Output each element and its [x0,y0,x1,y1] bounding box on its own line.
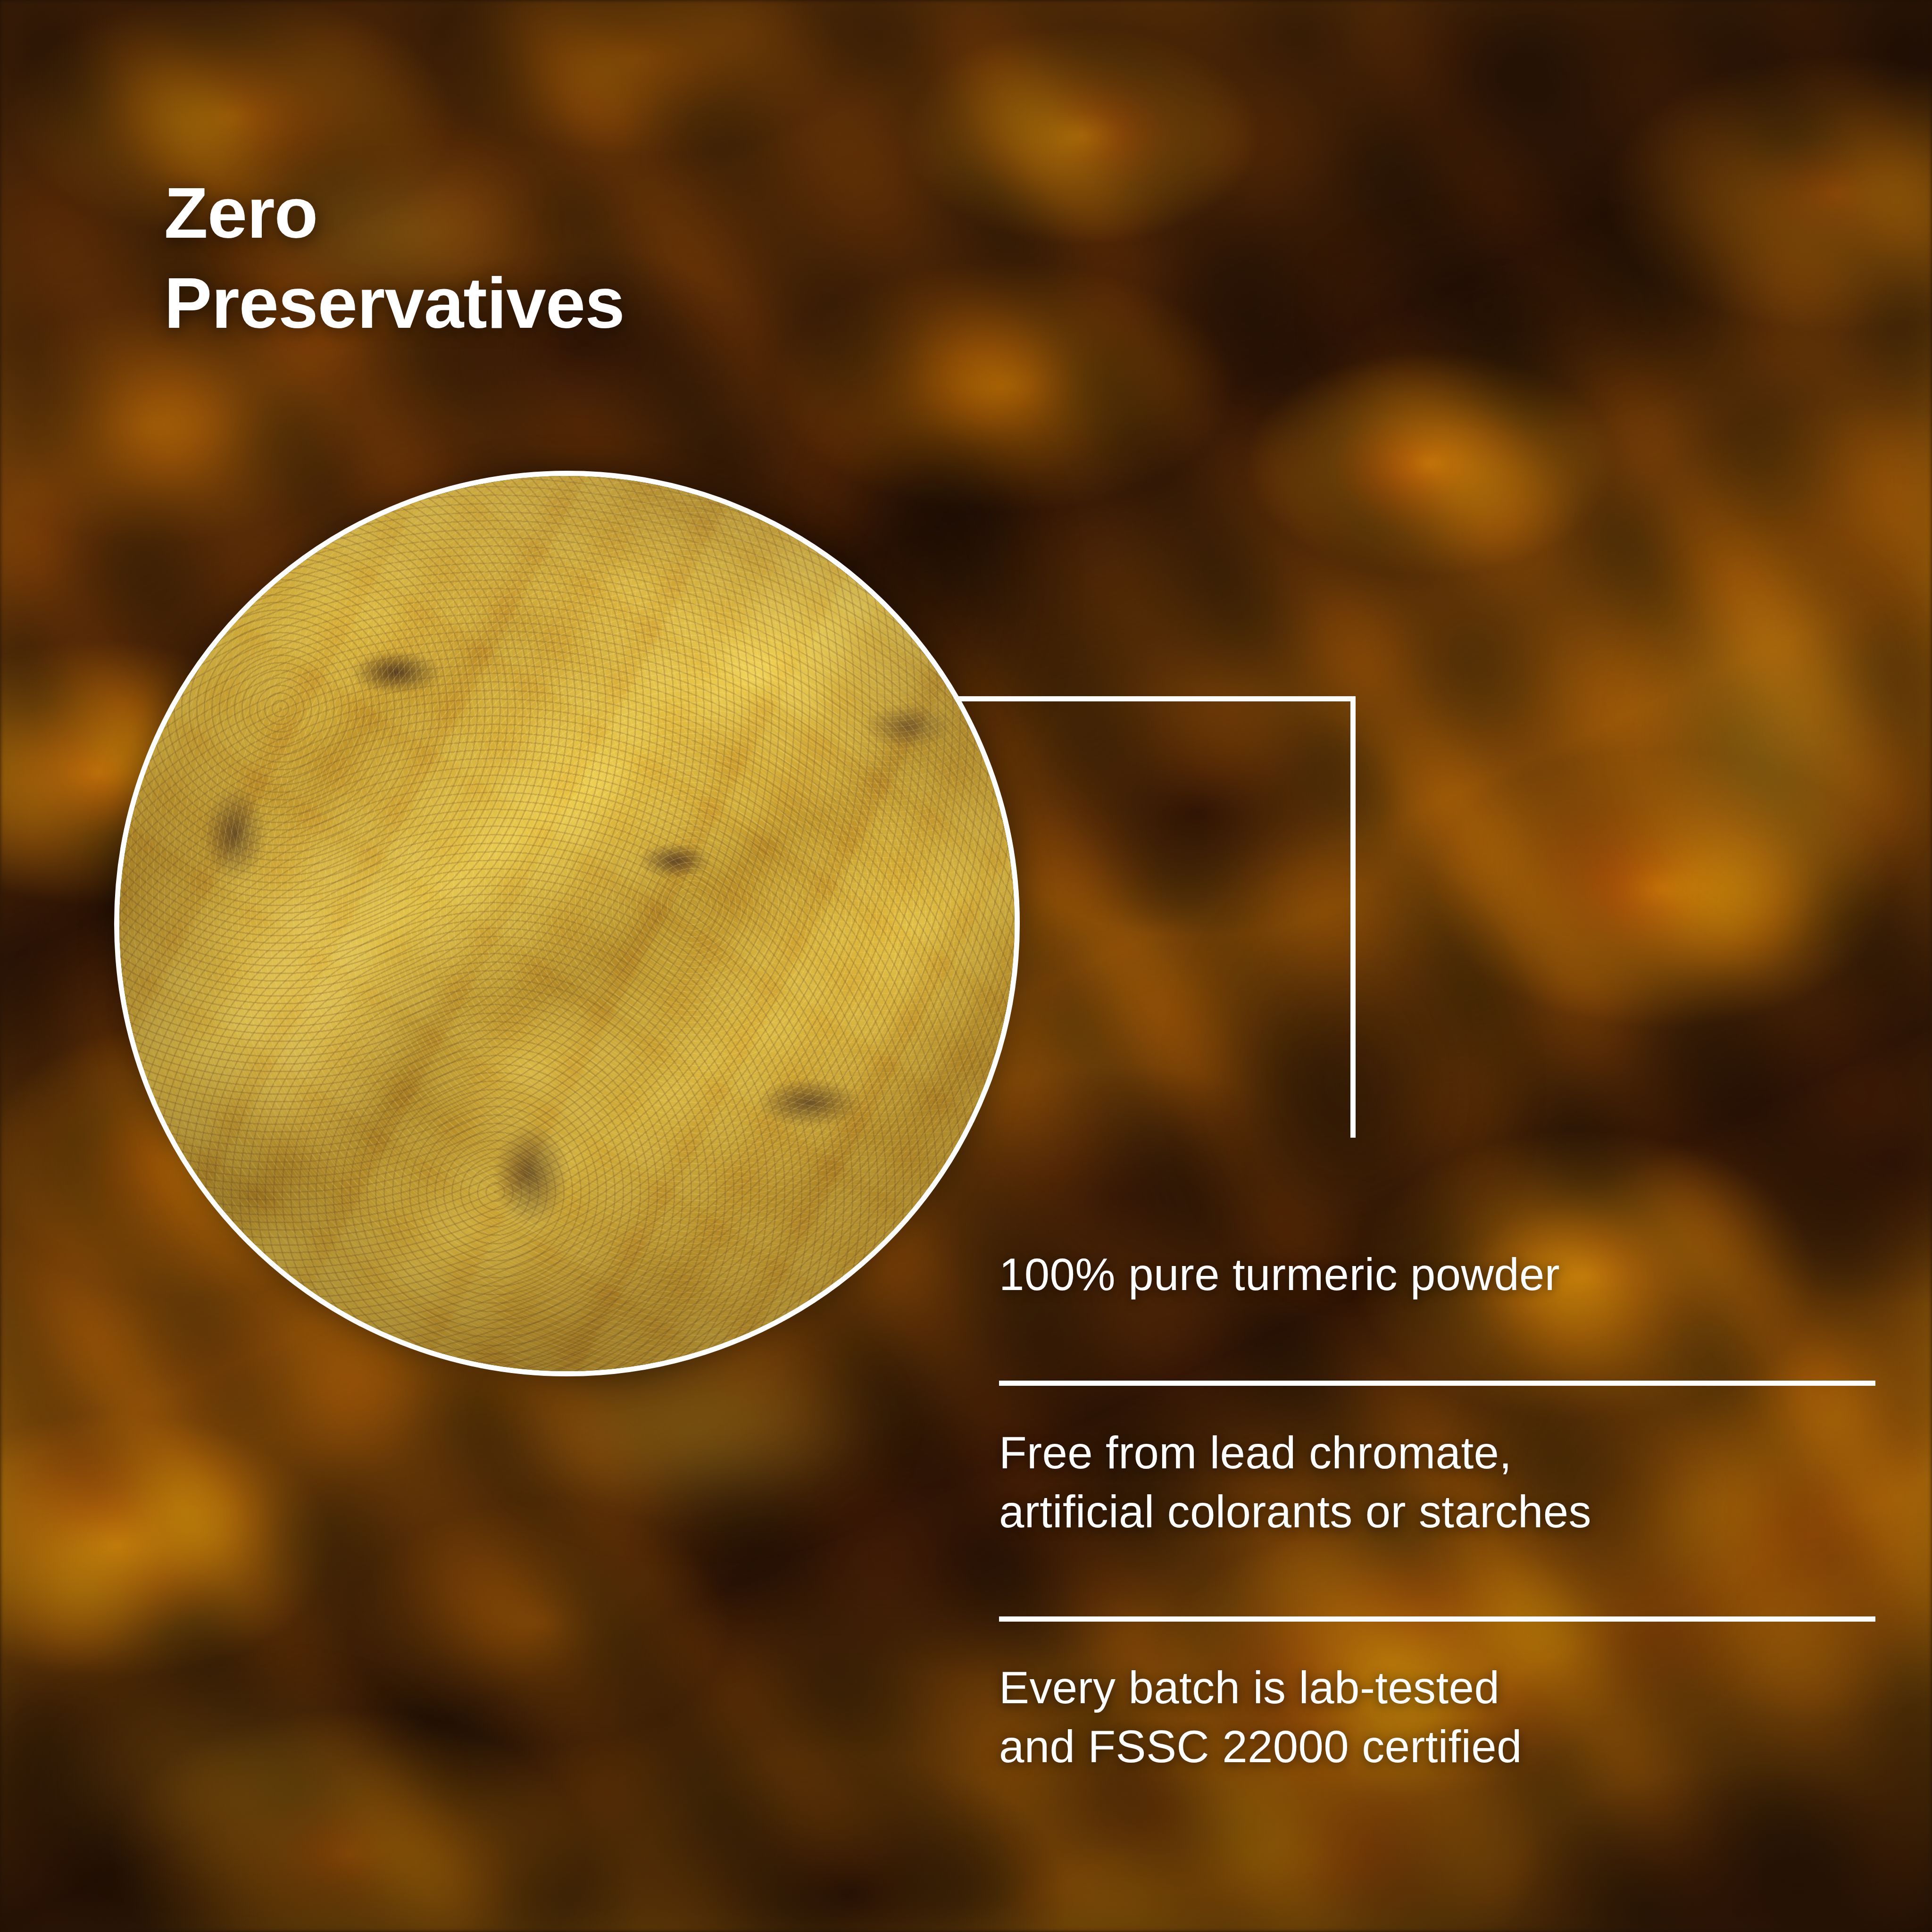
turmeric-root-shading [119,476,1015,1371]
feature-divider-2 [999,1616,1875,1622]
poster-canvas: Zero Preservatives 100% pure turmeric po… [0,0,1932,1932]
feature-item-no-adulterants: Free from lead chromate, artificial colo… [999,1424,1875,1541]
feature-item-lab-tested: Every batch is lab-tested and FSSC 22000… [999,1658,1875,1776]
feature-divider-1 [999,1381,1875,1386]
feature-item-purity: 100% pure turmeric powder [999,1245,1875,1304]
feature-list: 100% pure turmeric powder Free from lead… [999,1245,1875,1776]
spacer [999,1541,1875,1616]
connector-horizontal-line [957,696,1356,701]
turmeric-root-circle-inset [114,471,1020,1376]
spacer [999,1304,1875,1381]
spacer [999,1386,1875,1424]
spacer [999,1622,1875,1658]
page-title: Zero Preservatives [164,168,1013,349]
connector-vertical-line [1350,696,1356,1138]
